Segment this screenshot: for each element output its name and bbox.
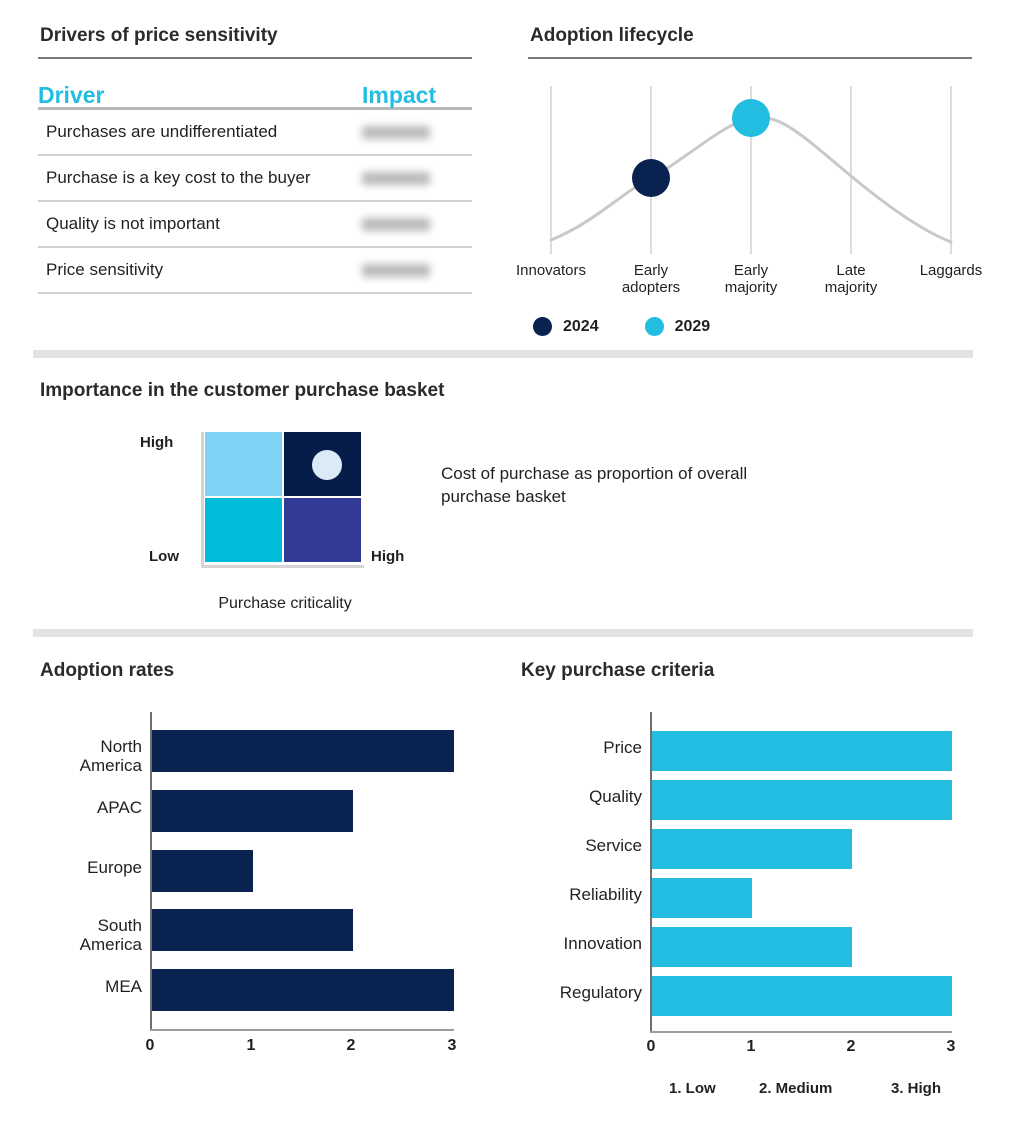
- matrix-cell-high-low: [284, 498, 361, 562]
- impact-cell: [362, 264, 472, 277]
- redacted-value: [362, 264, 430, 277]
- adoption-rates-chart: NorthAmerica APAC Europe SouthAmerica ME…: [0, 700, 500, 1060]
- legend-dot-icon: [533, 317, 552, 336]
- matrix-label-x-high: High: [371, 548, 404, 565]
- category-label-regulatory: Regulatory: [500, 984, 642, 1003]
- legend-label: 2029: [675, 318, 711, 336]
- drivers-table: Driver Impact Purchases are undifferenti…: [38, 74, 472, 294]
- criteria-x-axis: [650, 1031, 952, 1033]
- legend-item-2024: 2024: [533, 317, 599, 336]
- matrix-annotation: Cost of purchase as proportion of overal…: [441, 463, 791, 509]
- category-label-north-america: NorthAmerica: [0, 738, 142, 775]
- bar-apac: [152, 790, 353, 832]
- category-label-europe: Europe: [0, 859, 142, 878]
- driver-label: Purchases are undifferentiated: [38, 122, 362, 142]
- impact-cell: [362, 218, 472, 231]
- lifecycle-x-axis-labels: Innovators Earlyadopters Earlymajority L…: [500, 262, 1000, 312]
- criteria-panel-title: Key purchase criteria: [521, 660, 714, 682]
- impact-cell: [362, 126, 472, 139]
- x-tick-1: 1: [231, 1037, 271, 1055]
- bar-mea: [152, 969, 454, 1011]
- x-label-laggards: Laggards: [891, 262, 1011, 279]
- redacted-value: [362, 172, 430, 185]
- bar-price: [652, 731, 952, 771]
- category-label-south-america: SouthAmerica: [0, 917, 142, 954]
- marker-2024: [632, 159, 670, 197]
- driver-label: Quality is not important: [38, 214, 362, 234]
- adoption-lifecycle-chart: Innovators Earlyadopters Earlymajority L…: [500, 74, 1000, 344]
- lifecycle-title-rule: [528, 57, 972, 59]
- lifecycle-panel-title: Adoption lifecycle: [530, 25, 694, 47]
- impact-cell: [362, 172, 472, 185]
- lifecycle-plot-area: [500, 82, 1000, 260]
- matrix-y-axis: [201, 432, 204, 568]
- bar-service: [652, 829, 852, 869]
- lifecycle-legend: 2024 2029: [533, 317, 710, 336]
- section-divider-2: [33, 629, 973, 637]
- bar-south-america: [152, 909, 353, 951]
- matrix-panel-title: Importance in the customer purchase bask…: [40, 380, 444, 402]
- bar-quality: [652, 780, 952, 820]
- driver-label: Price sensitivity: [38, 260, 362, 280]
- x-tick-3: 3: [931, 1038, 971, 1056]
- marker-2029: [732, 99, 770, 137]
- section-divider-1: [33, 350, 973, 358]
- drivers-panel-title: Drivers of price sensitivity: [40, 25, 278, 47]
- table-row: Purchase is a key cost to the buyer: [38, 156, 472, 202]
- category-label-apac: APAC: [0, 799, 142, 818]
- x-tick-0: 0: [631, 1038, 671, 1056]
- purchase-basket-matrix: High Low High Purchase criticality: [205, 432, 361, 562]
- scale-legend-low: 1. Low: [669, 1080, 716, 1097]
- key-purchase-criteria-chart: Price Quality Service Reliability Innova…: [500, 700, 1026, 1110]
- category-label-reliability: Reliability: [500, 886, 642, 905]
- matrix-x-axis-title: Purchase criticality: [195, 595, 375, 613]
- x-tick-3: 3: [432, 1037, 472, 1055]
- column-header-driver: Driver: [38, 84, 362, 107]
- driver-label: Purchase is a key cost to the buyer: [38, 168, 362, 188]
- drivers-table-header: Driver Impact: [38, 74, 472, 110]
- bar-innovation: [652, 927, 852, 967]
- column-header-impact: Impact: [362, 84, 472, 107]
- bar-regulatory: [652, 976, 952, 1016]
- legend-item-2029: 2029: [645, 317, 711, 336]
- matrix-x-axis: [201, 565, 364, 568]
- redacted-value: [362, 218, 430, 231]
- table-row: Purchases are undifferentiated: [38, 110, 472, 156]
- x-tick-2: 2: [831, 1038, 871, 1056]
- legend-dot-icon: [645, 317, 664, 336]
- table-row: Price sensitivity: [38, 248, 472, 294]
- category-label-price: Price: [500, 739, 642, 758]
- bar-reliability: [652, 878, 752, 918]
- matrix-cell-low-low: [205, 498, 282, 562]
- matrix-position-marker: [312, 450, 342, 480]
- bar-north-america: [152, 730, 454, 772]
- x-tick-0: 0: [130, 1037, 170, 1055]
- table-row: Quality is not important: [38, 202, 472, 248]
- adoption-rates-title: Adoption rates: [40, 660, 174, 682]
- matrix-cell-low-high: [205, 432, 282, 496]
- dashboard-page: Drivers of price sensitivity Driver Impa…: [0, 0, 1026, 1124]
- lifecycle-svg: [500, 82, 1000, 260]
- drivers-title-rule: [38, 57, 472, 59]
- category-label-innovation: Innovation: [500, 935, 642, 954]
- matrix-label-y-low: Low: [149, 548, 179, 565]
- x-tick-1: 1: [731, 1038, 771, 1056]
- adoption-x-axis: [150, 1029, 454, 1031]
- category-label-quality: Quality: [500, 788, 642, 807]
- bar-europe: [152, 850, 253, 892]
- category-label-mea: MEA: [0, 978, 142, 997]
- scale-legend-high: 3. High: [891, 1080, 941, 1097]
- scale-legend-medium: 2. Medium: [759, 1080, 832, 1097]
- matrix-cell-high-high: [284, 432, 361, 496]
- redacted-value: [362, 126, 430, 139]
- category-label-service: Service: [500, 837, 642, 856]
- matrix-label-y-high: High: [140, 434, 173, 451]
- legend-label: 2024: [563, 318, 599, 336]
- matrix-grid: [205, 432, 361, 562]
- x-tick-2: 2: [331, 1037, 371, 1055]
